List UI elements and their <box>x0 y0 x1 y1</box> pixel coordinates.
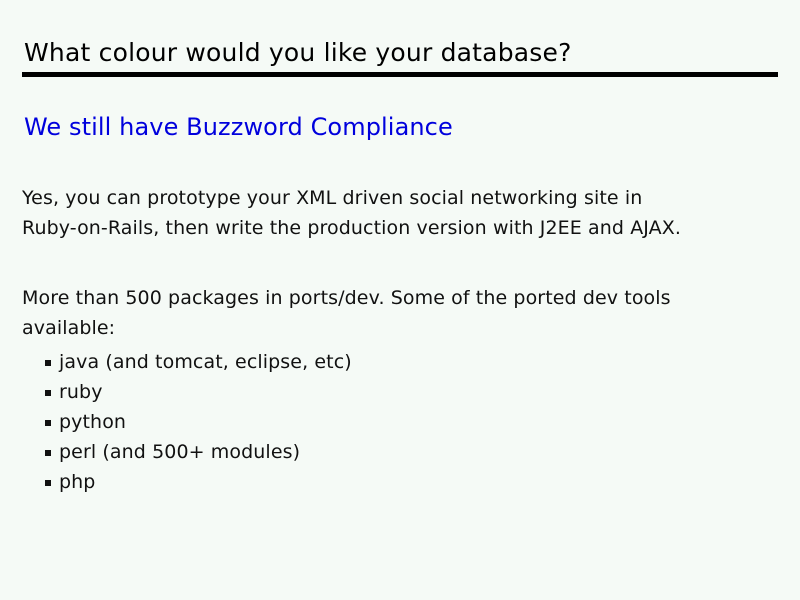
list-item: java (and tomcat, eclipse, etc) <box>45 347 352 377</box>
paragraph-buzzword: Yes, you can prototype your XML driven s… <box>22 183 767 243</box>
list-item-label: perl (and 500+ modules) <box>59 441 300 463</box>
list-item-label: php <box>59 471 95 493</box>
title-divider <box>22 72 778 77</box>
list-item-label: java (and tomcat, eclipse, etc) <box>59 351 352 373</box>
square-bullet-icon <box>45 390 51 396</box>
paragraph-line: Yes, you can prototype your XML driven s… <box>22 183 767 213</box>
list-item-label: python <box>59 411 126 433</box>
page-title: What colour would you like your database… <box>24 38 780 68</box>
square-bullet-icon <box>45 450 51 456</box>
list-item: ruby <box>45 377 352 407</box>
square-bullet-icon <box>45 360 51 366</box>
paragraph-line: available: <box>22 313 767 343</box>
slide-canvas: What colour would you like your database… <box>0 0 800 600</box>
slide-subtitle: We still have Buzzword Compliance <box>24 112 453 142</box>
list-item: php <box>45 467 352 497</box>
dev-tools-list: java (and tomcat, eclipse, etc) ruby pyt… <box>45 347 352 497</box>
square-bullet-icon <box>45 420 51 426</box>
paragraph-packages: More than 500 packages in ports/dev. Som… <box>22 283 767 343</box>
list-item-label: ruby <box>59 381 103 403</box>
square-bullet-icon <box>45 480 51 486</box>
list-item: perl (and 500+ modules) <box>45 437 352 467</box>
paragraph-line: Ruby-on-Rails, then write the production… <box>22 213 767 243</box>
paragraph-line: More than 500 packages in ports/dev. Som… <box>22 283 767 313</box>
list-item: python <box>45 407 352 437</box>
